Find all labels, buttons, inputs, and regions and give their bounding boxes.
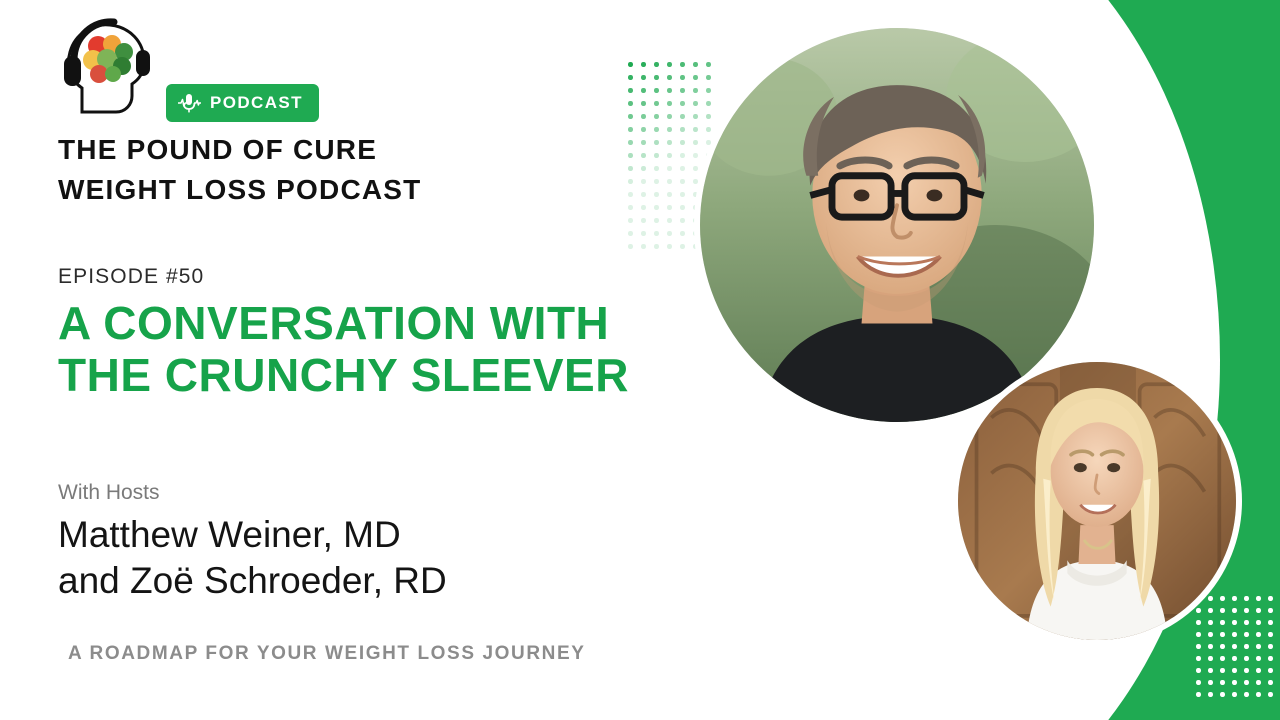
episode-title: A CONVERSATION WITH THE CRUNCHY SLEEVER xyxy=(58,298,638,401)
show-title-line-2: WEIGHT LOSS PODCAST xyxy=(58,170,618,210)
podcast-badge-label: PODCAST xyxy=(210,93,303,113)
host-names: Matthew Weiner, MD and Zoë Schroeder, RD xyxy=(58,512,618,605)
photo-zoe-schroeder-image xyxy=(958,362,1236,640)
podcast-episode-cover: PODCAST THE POUND OF CURE WEIGHT LOSS PO… xyxy=(0,0,1280,720)
photo-zoe-schroeder xyxy=(952,356,1242,646)
with-hosts-label: With Hosts xyxy=(58,481,160,505)
episode-number: EPISODE #50 xyxy=(58,265,204,289)
host-name-primary: Matthew Weiner, MD xyxy=(58,512,618,558)
microphone-icon xyxy=(176,90,202,116)
head-brain-headphones-icon xyxy=(52,14,162,124)
show-title-line-1: THE POUND OF CURE xyxy=(58,130,618,170)
podcast-badge: PODCAST xyxy=(166,84,319,122)
show-title: THE POUND OF CURE WEIGHT LOSS PODCAST xyxy=(58,130,618,210)
host-name-secondary: and Zoë Schroeder, RD xyxy=(58,558,618,604)
tagline: A ROADMAP FOR YOUR WEIGHT LOSS JOURNEY xyxy=(68,643,586,665)
